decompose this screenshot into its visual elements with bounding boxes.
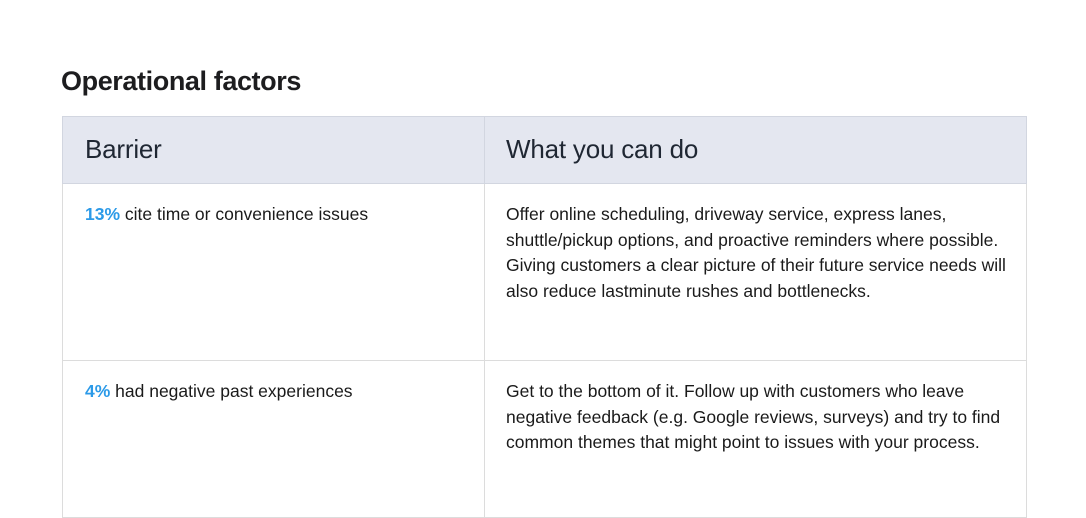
cell-barrier: 4% had negative past experiences [63,361,485,518]
table-row: 13% cite time or convenience issues Offe… [63,184,1027,361]
slide-canvas: Operational factors Barrier What you can… [0,0,1086,512]
cell-action: Offer online scheduling, driveway servic… [485,184,1027,361]
table-body: 13% cite time or convenience issues Offe… [63,184,1027,518]
barrier-percent: 4% [85,381,110,401]
barrier-label: cite time or convenience issues [120,204,368,224]
action-text: Get to the bottom of it. Follow up with … [506,379,1012,456]
operational-factors-table: Barrier What you can do 13% cite time or… [62,116,1027,518]
table-header-row: Barrier What you can do [63,117,1027,184]
operational-factors-table-wrapper: Barrier What you can do 13% cite time or… [62,116,1026,518]
page-title: Operational factors [61,64,301,98]
column-header-barrier: Barrier [63,117,485,184]
cell-barrier: 13% cite time or convenience issues [63,184,485,361]
cell-action: Get to the bottom of it. Follow up with … [485,361,1027,518]
action-text: Offer online scheduling, driveway servic… [506,202,1012,304]
column-header-action: What you can do [485,117,1027,184]
barrier-percent: 13% [85,204,120,224]
table-row: 4% had negative past experiences Get to … [63,361,1027,518]
barrier-label: had negative past experiences [110,381,352,401]
table-header: Barrier What you can do [63,117,1027,184]
